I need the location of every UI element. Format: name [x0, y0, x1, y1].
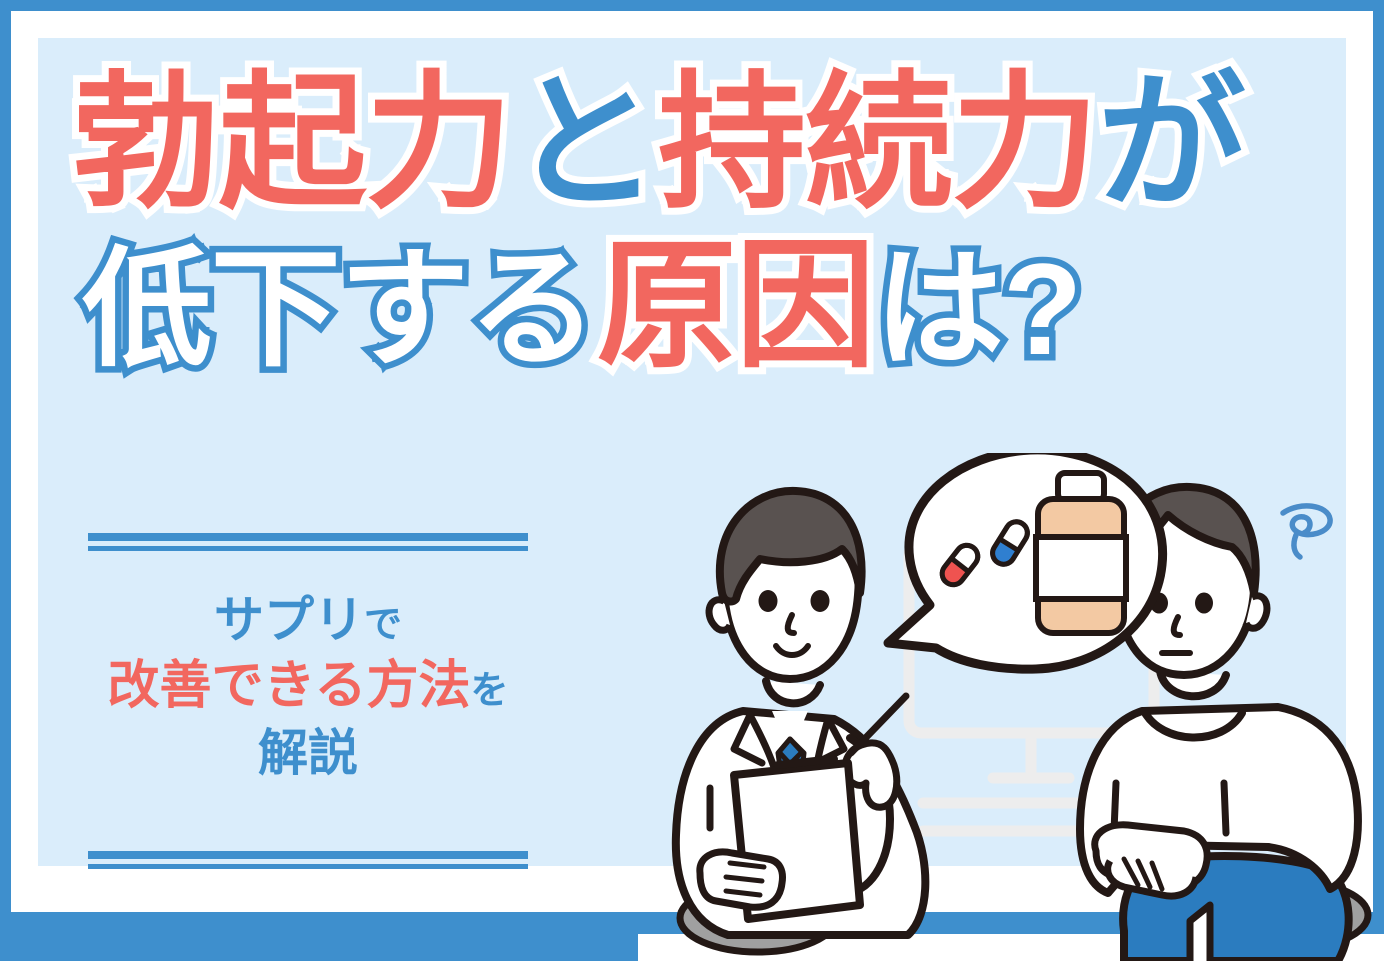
white-inner-frame: 勃起力と持続力が 低下する原因は? サプリで 改善できる方法を 解 — [11, 11, 1373, 912]
title-seg-genin: 原因 — [597, 236, 874, 376]
title-seg-jizokuryoku: 持続力 — [658, 70, 1098, 218]
patient-eye-right — [1195, 593, 1213, 614]
title-seg-to: と — [512, 70, 659, 218]
rule-thick-line — [88, 851, 528, 859]
doctor-figure — [676, 491, 926, 952]
supplement-bottle — [1036, 473, 1126, 633]
rule-thin-line — [88, 546, 528, 551]
double-rule-top — [88, 533, 528, 551]
title-line-2: 低下する原因は? — [82, 236, 1302, 376]
subtitle-line-1: サプリで — [88, 588, 528, 653]
outer-blue-frame: 勃起力と持続力が 低下する原因は? サプリで 改善できる方法を 解 — [0, 0, 1384, 923]
rule-thin-line — [88, 864, 528, 869]
title-seg-teikasuru: 低下する — [82, 244, 597, 374]
content-canvas: 勃起力と持続力が 低下する原因は? サプリで 改善できる方法を 解 — [38, 38, 1346, 866]
title-seg-bokkiryoku: 勃起力 — [72, 70, 512, 218]
rule-thick-line — [88, 533, 528, 541]
speech-bubble-supplements — [888, 453, 1163, 669]
title-line-1: 勃起力と持続力が — [72, 70, 1302, 218]
illustration-scene — [638, 453, 1384, 961]
page-title: 勃起力と持続力が 低下する原因は? — [72, 70, 1302, 376]
subtitle-seg-kaisetsu: 解説 — [258, 725, 358, 781]
subtitle-seg-wo: を — [470, 670, 508, 712]
subtitle-seg-kaizen: 改善できる方法 — [108, 657, 471, 715]
subtitle-line-3: 解説 — [88, 721, 528, 786]
doctor-eye-right — [811, 590, 830, 612]
title-seg-ga: が — [1098, 70, 1245, 218]
confusion-swirl — [1283, 506, 1330, 557]
subtitle-seg-de: で — [364, 604, 402, 646]
subtitle-seg-supuri: サプリ — [214, 592, 364, 648]
doctor-eye-left — [759, 590, 778, 612]
title-seg-wa: は? — [874, 244, 1081, 374]
subtitle-line-2: 改善できる方法を — [88, 653, 528, 721]
subtitle-block: サプリで 改善できる方法を 解説 — [88, 588, 528, 786]
double-rule-bottom — [88, 851, 528, 869]
